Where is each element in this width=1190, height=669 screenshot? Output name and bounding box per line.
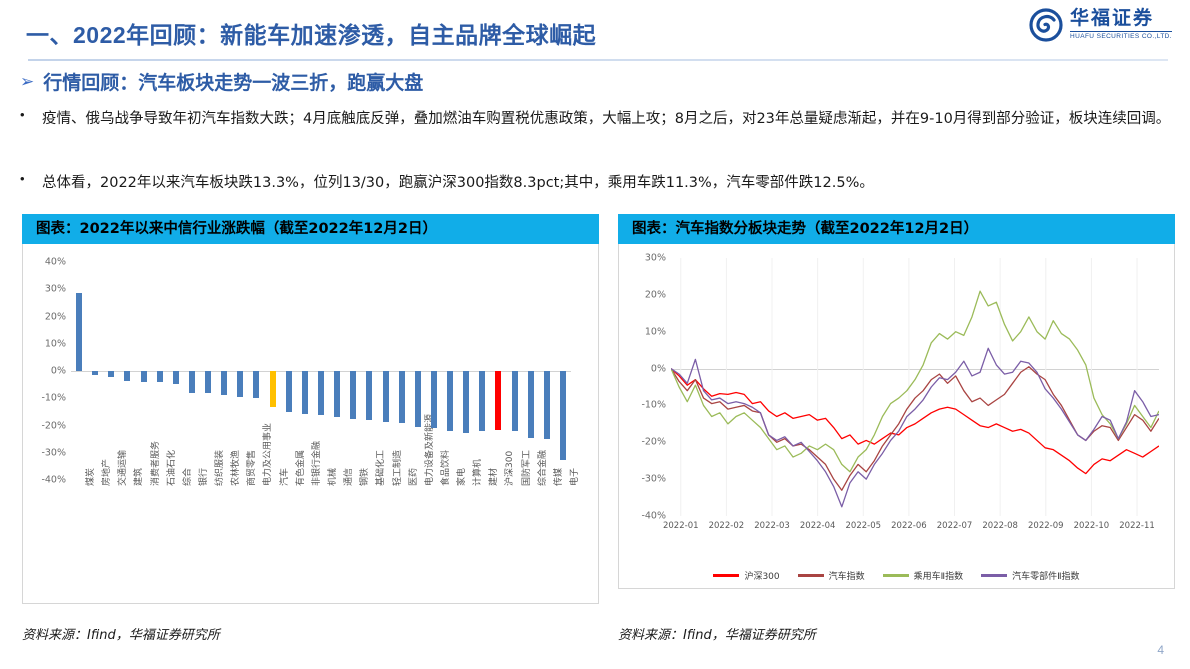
logo-name-cn: 华福证券 [1070, 9, 1172, 28]
y-axis-tick: 0% [651, 363, 666, 374]
y-axis-tick: 20% [645, 289, 666, 300]
chart-canvas-auto-index-trend: 30%20%10%0%-10%-20%-30%-40%2022-012022-0… [618, 244, 1175, 589]
bar [108, 371, 114, 377]
bar [447, 371, 453, 431]
bullet-item: • 总体看，2022年以来汽车板块跌13.3%，位列13/30，跑赢沪深300指… [20, 168, 1175, 199]
chart-panel-auto-index-trend: 图表：汽车指数分板块走势（截至2022年12月2日） 30%20%10%0%-1… [618, 214, 1175, 643]
y-axis-tick: -10% [641, 400, 666, 411]
legend-item[interactable]: 汽车指数 [798, 569, 865, 582]
chart-canvas-industry-returns: 40%30%20%10%0%-10%-20%-30%-40%煤炭房地产交通运输建… [22, 244, 599, 604]
bar [157, 371, 163, 382]
x-axis-category-label: 交通运输 [115, 450, 128, 486]
line-series [671, 369, 1159, 474]
x-axis-category-label: 汽车 [277, 468, 290, 486]
x-axis-category-label: 计算机 [470, 459, 483, 486]
bar [415, 371, 421, 427]
x-axis-category-label: 银行 [196, 468, 209, 486]
page-title: 一、2022年回顾：新能车加速渗透，自主品牌全球崛起 [26, 16, 596, 50]
bar [76, 293, 82, 371]
x-axis-tick: 2022-06 [891, 521, 927, 531]
y-axis-tick: 30% [45, 284, 66, 295]
x-axis-category-label: 房地产 [99, 459, 112, 486]
x-axis-category-label: 综合 [180, 468, 193, 486]
x-axis-tick: 2022-09 [1028, 521, 1064, 531]
bullet-dot-icon: • [20, 104, 30, 126]
x-axis-tick: 2022-11 [1119, 521, 1155, 531]
line-series [671, 291, 1159, 472]
x-axis-category-label: 纺织服装 [212, 450, 225, 486]
y-axis-tick: -20% [41, 420, 66, 431]
bar [383, 371, 389, 422]
x-axis-category-label: 农林牧渔 [228, 450, 241, 486]
x-axis-category-label: 通信 [341, 468, 354, 486]
x-axis-category-label: 非银行金融 [309, 441, 322, 486]
company-logo: 华福证券 HUAFU SECURITIES CO.,LTD. [1029, 8, 1172, 42]
bar [495, 371, 501, 430]
legend-item[interactable]: 沪深300 [713, 569, 779, 582]
line-series [671, 348, 1159, 506]
line-series [671, 367, 1159, 490]
chart-legend: 沪深300汽车指数乘用车Ⅱ指数汽车零部件Ⅱ指数 [619, 569, 1174, 582]
bar [528, 371, 534, 438]
x-axis-category-label: 沪深300 [502, 451, 515, 486]
x-axis-category-label: 建材 [486, 468, 499, 486]
bullet-text: 总体看，2022年以来汽车板块跌13.3%，位列13/30，跑赢沪深300指数8… [42, 168, 874, 199]
x-axis-category-label: 商贸零售 [244, 450, 257, 486]
bar [512, 371, 518, 431]
x-axis-tick: 2022-10 [1074, 521, 1110, 531]
bar [350, 371, 356, 419]
x-axis-tick: 2022-08 [982, 521, 1018, 531]
x-axis-category-label: 石油石化 [164, 450, 177, 486]
bar [189, 371, 195, 393]
subheading-label: 行情回顾：汽车板块走势一波三折，跑赢大盘 [43, 68, 423, 95]
bar [205, 371, 211, 393]
bar [124, 371, 130, 381]
x-axis-category-label: 国防军工 [519, 450, 532, 486]
bar [173, 371, 179, 384]
subheading: ➢ 行情回顾：汽车板块走势一波三折，跑赢大盘 [20, 68, 423, 95]
x-axis-category-label: 建筑 [131, 468, 144, 486]
legend-label: 乘用车Ⅱ指数 [914, 569, 963, 582]
legend-item[interactable]: 乘用车Ⅱ指数 [883, 569, 963, 582]
y-axis-tick: -30% [641, 474, 666, 485]
y-axis-tick: 20% [45, 311, 66, 322]
bar [318, 371, 324, 415]
bar [221, 371, 227, 395]
arrow-bullet-icon: ➢ [20, 73, 34, 90]
y-axis-tick: 10% [45, 338, 66, 349]
bar [270, 371, 276, 407]
x-axis-category-label: 食品饮料 [438, 450, 451, 486]
logo-name-en: HUAFU SECURITIES CO.,LTD. [1070, 31, 1172, 41]
x-axis-tick: 2022-04 [800, 521, 836, 531]
bar [479, 371, 485, 431]
chart-title-auto-index-trend: 图表：汽车指数分板块走势（截至2022年12月2日） [618, 214, 1175, 244]
bar [544, 371, 550, 439]
y-axis-tick: -40% [641, 511, 666, 522]
x-axis-category-label: 轻工制造 [390, 450, 403, 486]
legend-color-swatch [713, 574, 739, 577]
chart-title-industry-returns: 图表：2022年以来中信行业涨跌幅（截至2022年12月2日） [22, 214, 599, 244]
page-number: 4 [1157, 643, 1164, 657]
bullet-item: • 疫情、俄乌战争导致年初汽车指数大跌；4月底触底反弹，叠加燃油车购置税优惠政策… [20, 104, 1175, 135]
x-axis-category-label: 机械 [325, 468, 338, 486]
x-axis-category-label: 基础化工 [373, 450, 386, 486]
x-axis-category-label: 综合金融 [535, 450, 548, 486]
chart-source-right: 资料来源：Ifind，华福证券研究所 [618, 624, 1175, 643]
legend-label: 汽车零部件Ⅱ指数 [1012, 569, 1079, 582]
x-axis-tick: 2022-01 [663, 521, 699, 531]
legend-label: 沪深300 [744, 569, 779, 582]
line-series-group [671, 258, 1159, 516]
legend-item[interactable]: 汽车零部件Ⅱ指数 [981, 569, 1079, 582]
y-axis-tick: 40% [45, 257, 66, 268]
chart-panel-industry-returns: 图表：2022年以来中信行业涨跌幅（截至2022年12月2日） 40%30%20… [22, 214, 599, 643]
title-divider [28, 59, 1168, 61]
bullet-text: 疫情、俄乌战争导致年初汽车指数大跌；4月底触底反弹，叠加燃油车购置税优惠政策，大… [42, 104, 1170, 135]
x-axis-category-label: 消费者服务 [148, 441, 161, 486]
bar [431, 371, 437, 428]
x-axis-category-label: 钢铁 [357, 468, 370, 486]
bar [237, 371, 243, 397]
bar [92, 371, 98, 375]
y-axis-tick: -40% [41, 475, 66, 486]
bar-plot-area: 40%30%20%10%0%-10%-20%-30%-40%煤炭房地产交通运输建… [71, 262, 571, 480]
bar [463, 371, 469, 433]
y-axis-tick: -30% [41, 447, 66, 458]
x-axis-category-label: 有色金属 [293, 450, 306, 486]
legend-color-swatch [798, 574, 824, 577]
huafu-swirl-icon [1029, 8, 1063, 42]
x-axis-tick: 2022-07 [937, 521, 973, 531]
x-axis-tick: 2022-03 [754, 521, 790, 531]
bar [334, 371, 340, 417]
bar [302, 371, 308, 414]
bar [560, 371, 566, 460]
bar [253, 371, 259, 398]
y-axis-tick: 0% [51, 366, 66, 377]
bullet-dot-icon: • [20, 168, 30, 190]
x-axis-category-label: 传媒 [551, 468, 564, 486]
bar [399, 371, 405, 423]
x-axis-category-label: 电子 [567, 468, 580, 486]
x-axis-tick: 2022-05 [846, 521, 882, 531]
x-axis-category-label: 医药 [406, 468, 419, 486]
y-axis-tick: 30% [645, 253, 666, 264]
x-axis-category-label: 家电 [454, 468, 467, 486]
bar [141, 371, 147, 382]
line-plot-area: 30%20%10%0%-10%-20%-30%-40%2022-012022-0… [671, 258, 1159, 516]
x-axis-category-label: 煤炭 [83, 468, 96, 486]
bar [366, 371, 372, 420]
x-axis-category-label: 电力及公用事业 [260, 423, 273, 486]
legend-color-swatch [981, 574, 1007, 577]
legend-label: 汽车指数 [829, 569, 865, 582]
y-axis-tick: -20% [641, 437, 666, 448]
bar [286, 371, 292, 412]
x-axis-tick: 2022-02 [709, 521, 745, 531]
chart-source-left: 资料来源：Ifind，华福证券研究所 [22, 624, 599, 643]
legend-color-swatch [883, 574, 909, 577]
y-axis-tick: -10% [41, 393, 66, 404]
y-axis-tick: 10% [645, 326, 666, 337]
